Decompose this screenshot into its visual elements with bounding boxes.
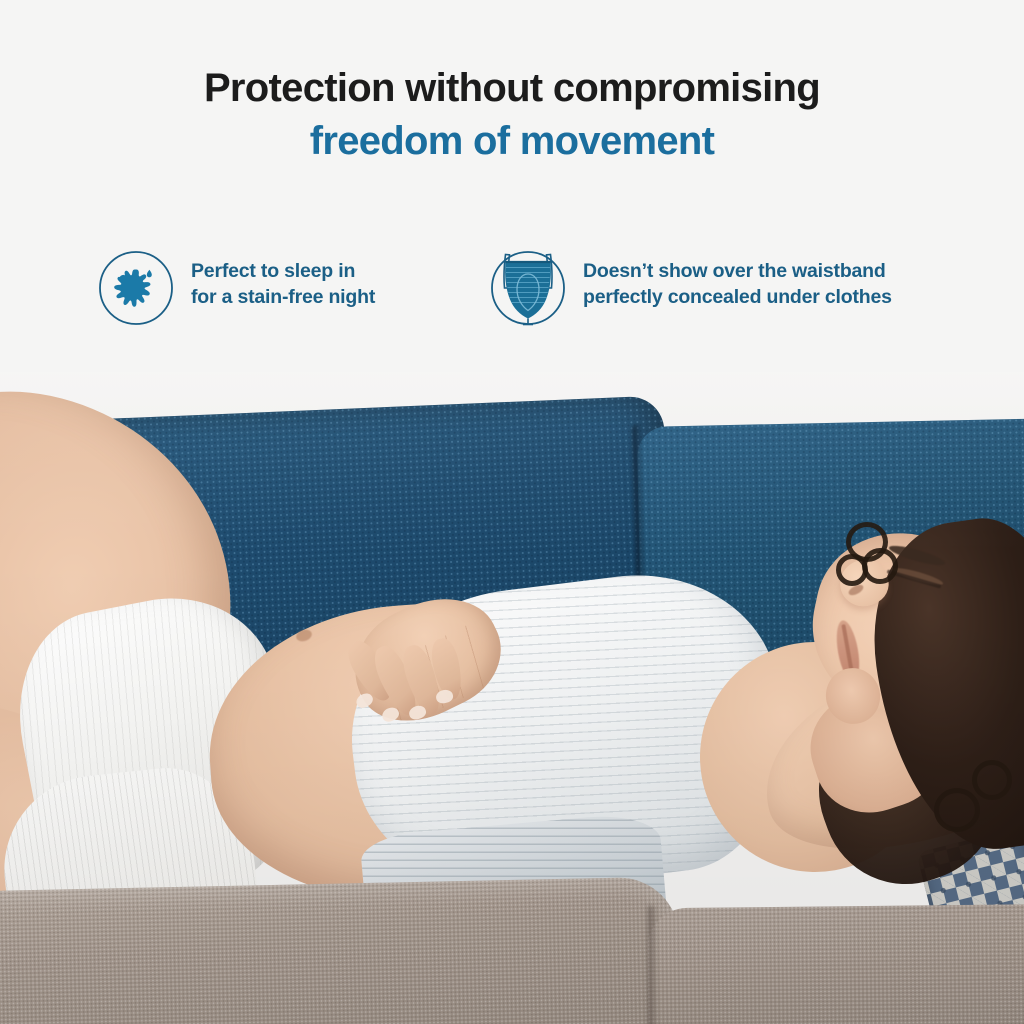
- lifestyle-photo: [0, 372, 1024, 1024]
- sofa-seat-cushion-right: [647, 904, 1024, 1024]
- underwear-brief-icon: [490, 250, 566, 326]
- header-block: Protection without compromising freedom …: [0, 0, 1024, 372]
- hair-curl: [972, 760, 1012, 800]
- hair-curl: [934, 788, 980, 832]
- liquid-splash-icon: [98, 250, 174, 326]
- feature-item-sleep: Perfect to sleep in for a stain-free nig…: [98, 244, 375, 326]
- headline-line-2: freedom of movement: [0, 121, 1024, 161]
- page-title: Protection without compromising freedom …: [0, 68, 1024, 161]
- feature-text-sleep: Perfect to sleep in for a stain-free nig…: [191, 259, 375, 311]
- feature-1-line-2: for a stain-free night: [191, 285, 375, 311]
- feature-text-discreet: Doesn’t show over the waistband perfectl…: [583, 259, 892, 311]
- feature-list: Perfect to sleep in for a stain-free nig…: [0, 244, 1024, 344]
- feature-1-line-1: Perfect to sleep in: [191, 259, 375, 285]
- feature-item-discreet: Doesn’t show over the waistband perfectl…: [490, 244, 892, 326]
- sofa-seat-cushion-left: [0, 876, 682, 1024]
- sofa-seat-seam: [648, 906, 657, 1024]
- product-feature-banner: Protection without compromising freedom …: [0, 0, 1024, 1024]
- headline-line-1: Protection without compromising: [0, 68, 1024, 108]
- feature-2-line-1: Doesn’t show over the waistband: [583, 259, 892, 285]
- feature-2-line-2: perfectly concealed under clothes: [583, 285, 892, 311]
- hair-curl: [836, 554, 868, 586]
